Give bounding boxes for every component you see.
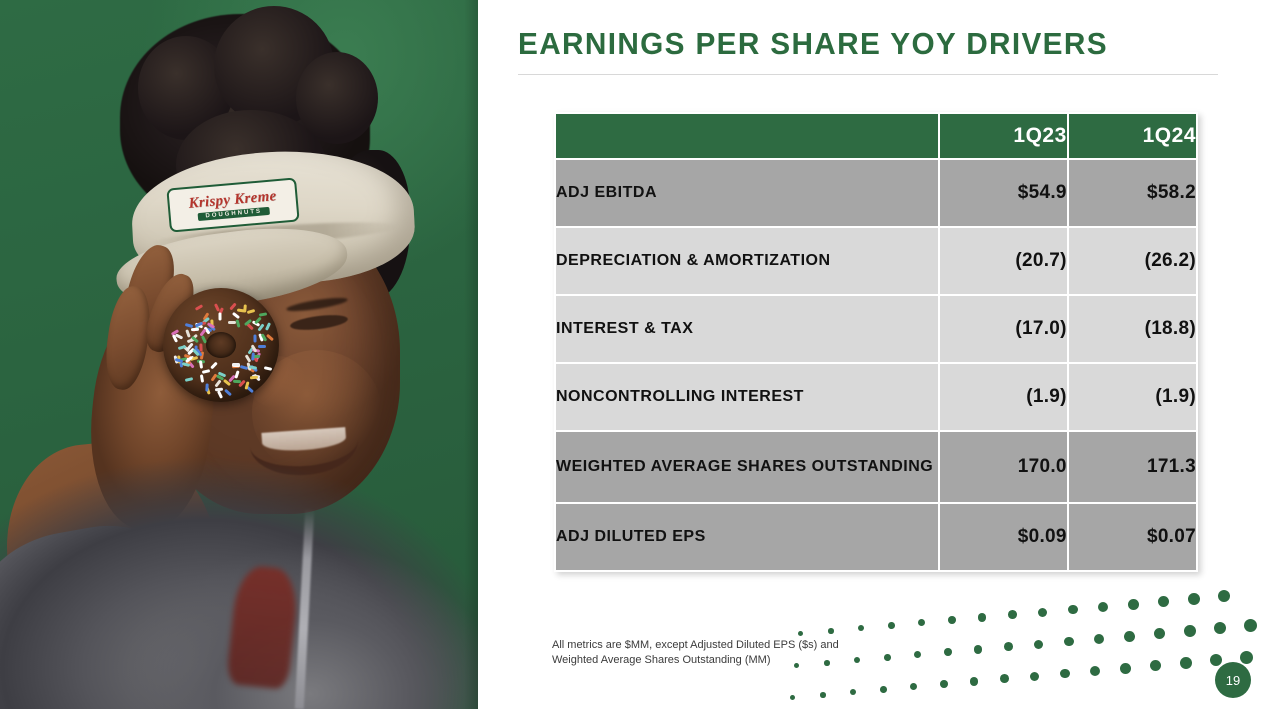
table-row: WEIGHTED AVERAGE SHARES OUTSTANDING170.0… [556, 432, 1196, 502]
row-value-1q24: (18.8) [1069, 296, 1196, 362]
header-blank-cell [556, 114, 938, 158]
eps-drivers-table: 1Q23 1Q24 ADJ EBITDA$54.9$58.2DEPRECIATI… [554, 112, 1198, 572]
donut-hole [206, 332, 236, 358]
row-value-1q23: $0.09 [940, 504, 1067, 570]
row-value-1q24: $58.2 [1069, 160, 1196, 226]
sprinkle [251, 352, 255, 360]
column-header-1q24: 1Q24 [1069, 114, 1196, 158]
table-row: NONCONTROLLING INTEREST(1.9)(1.9) [556, 364, 1196, 430]
slide-content: EARNINGS PER SHARE YOY DRIVERS 1Q23 1Q24… [478, 0, 1270, 709]
sprinkle [258, 345, 266, 348]
row-value-1q23: (1.9) [940, 364, 1067, 430]
row-label: INTEREST & TAX [556, 296, 938, 362]
title-divider [518, 74, 1218, 75]
sprinkle [228, 321, 236, 324]
row-value-1q24: $0.07 [1069, 504, 1196, 570]
sprinkle [191, 328, 199, 331]
table-row: INTEREST & TAX(17.0)(18.8) [556, 296, 1196, 362]
hero-photo: Krispy Kreme DOUGHNUTS [0, 0, 478, 709]
row-label: NONCONTROLLING INTEREST [556, 364, 938, 430]
row-label: DEPRECIATION & AMORTIZATION [556, 228, 938, 294]
page-number-badge: 19 [1215, 662, 1251, 698]
row-label: ADJ DILUTED EPS [556, 504, 938, 570]
row-value-1q24: (1.9) [1069, 364, 1196, 430]
page-title: EARNINGS PER SHARE YOY DRIVERS [518, 26, 1108, 62]
row-value-1q23: (20.7) [940, 228, 1067, 294]
row-value-1q24: 171.3 [1069, 432, 1196, 502]
sprinkle [218, 313, 221, 321]
row-label: ADJ EBITDA [556, 160, 938, 226]
row-value-1q24: (26.2) [1069, 228, 1196, 294]
footnote: All metrics are $MM, except Adjusted Dil… [552, 638, 852, 668]
column-header-1q23: 1Q23 [940, 114, 1067, 158]
row-label: WEIGHTED AVERAGE SHARES OUTSTANDING [556, 432, 938, 502]
table-body: ADJ EBITDA$54.9$58.2DEPRECIATION & AMORT… [556, 160, 1196, 570]
row-value-1q23: $54.9 [940, 160, 1067, 226]
panel-edge-shadow [464, 0, 478, 709]
table-header-row: 1Q23 1Q24 [556, 114, 1196, 158]
row-value-1q23: (17.0) [940, 296, 1067, 362]
table-row: ADJ DILUTED EPS$0.09$0.07 [556, 504, 1196, 570]
row-value-1q23: 170.0 [940, 432, 1067, 502]
sprinkle [198, 360, 202, 368]
table-row: DEPRECIATION & AMORTIZATION(20.7)(26.2) [556, 228, 1196, 294]
table-row: ADJ EBITDA$54.9$58.2 [556, 160, 1196, 226]
